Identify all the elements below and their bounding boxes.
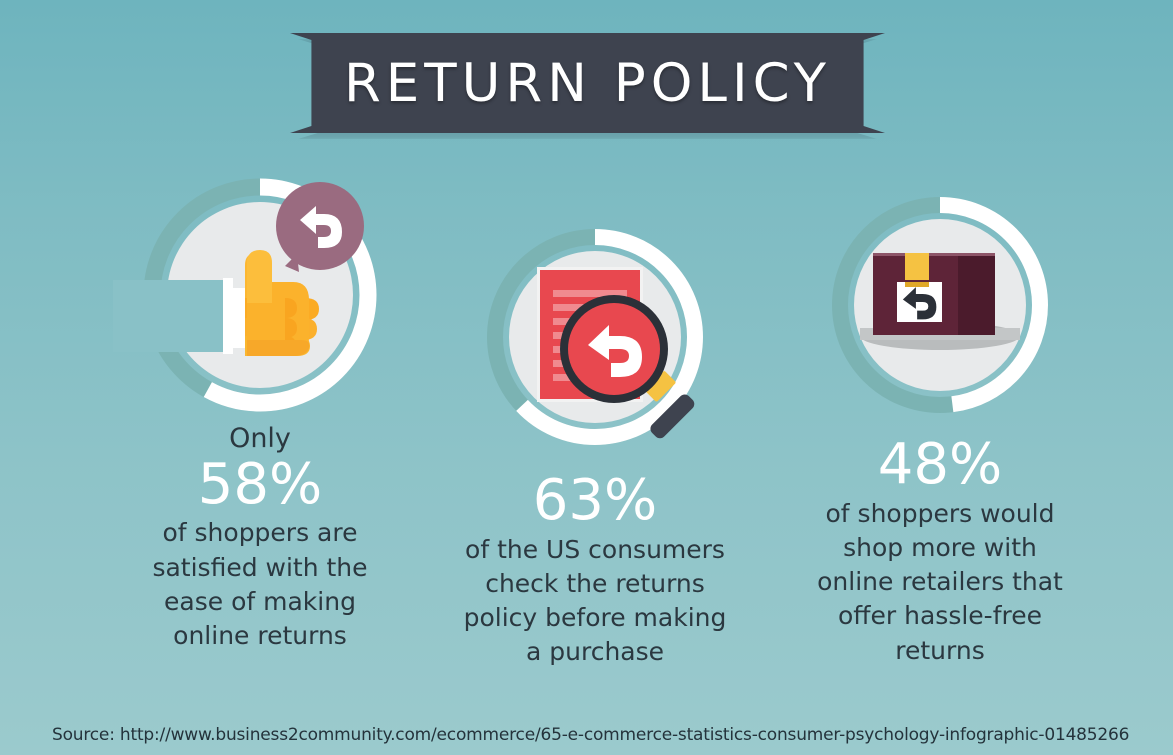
caption-line: satisfied with the (110, 551, 410, 585)
caption-line: policy before making (445, 601, 745, 635)
caption-line: a purchase (445, 635, 745, 669)
stat-caption-policy-check: 63% of the US consumers check the return… (445, 470, 745, 670)
parcel-box-icon (873, 253, 995, 335)
donut-gauge-58 (135, 170, 385, 420)
donut-gauge-63 (480, 222, 710, 452)
thumbs-up-with-return-bubble-icon (135, 170, 385, 420)
tape-strip (905, 253, 929, 280)
caption-line: of the US consumers (445, 533, 745, 567)
infographic-canvas: RETURN POLICY (0, 0, 1173, 755)
caption-line: online returns (110, 619, 410, 653)
stat-block-satisfaction: Only 58% of shoppers are satisfied with … (110, 170, 410, 653)
banner-ribbon: RETURN POLICY (290, 33, 885, 133)
return-speech-bubble-icon (276, 182, 364, 272)
caption-line: offer hassle-free (790, 599, 1090, 633)
stat-block-policy-check: 63% of the US consumers check the return… (445, 222, 745, 670)
return-box-icon (825, 190, 1055, 420)
caption-line: of shoppers are (110, 516, 410, 550)
stat-caption-satisfaction: Only 58% of shoppers are satisfied with … (110, 424, 410, 653)
stat-percent-value: 48% (790, 434, 1090, 497)
document-magnifier-return-icon (480, 222, 710, 452)
caption-line: returns (790, 634, 1090, 668)
donut-gauge-48 (825, 190, 1055, 420)
stat-lead-word: Only (110, 424, 410, 454)
stat-percent-value: 63% (445, 470, 745, 533)
title-banner: RETURN POLICY (290, 33, 885, 135)
caption-line: shop more with (790, 531, 1090, 565)
magnifier-icon (560, 295, 697, 441)
page-title: RETURN POLICY (344, 53, 831, 114)
caption-line: ease of making (110, 585, 410, 619)
caption-line: check the returns (445, 567, 745, 601)
stat-caption-hassle-free: 48% of shoppers would shop more with onl… (790, 434, 1090, 668)
stat-block-hassle-free: 48% of shoppers would shop more with onl… (790, 190, 1090, 668)
source-citation: Source: http://www.business2community.co… (52, 725, 1129, 745)
stat-percent-value: 58% (110, 454, 410, 517)
caption-line: of shoppers would (790, 497, 1090, 531)
caption-line: online retailers that (790, 565, 1090, 599)
